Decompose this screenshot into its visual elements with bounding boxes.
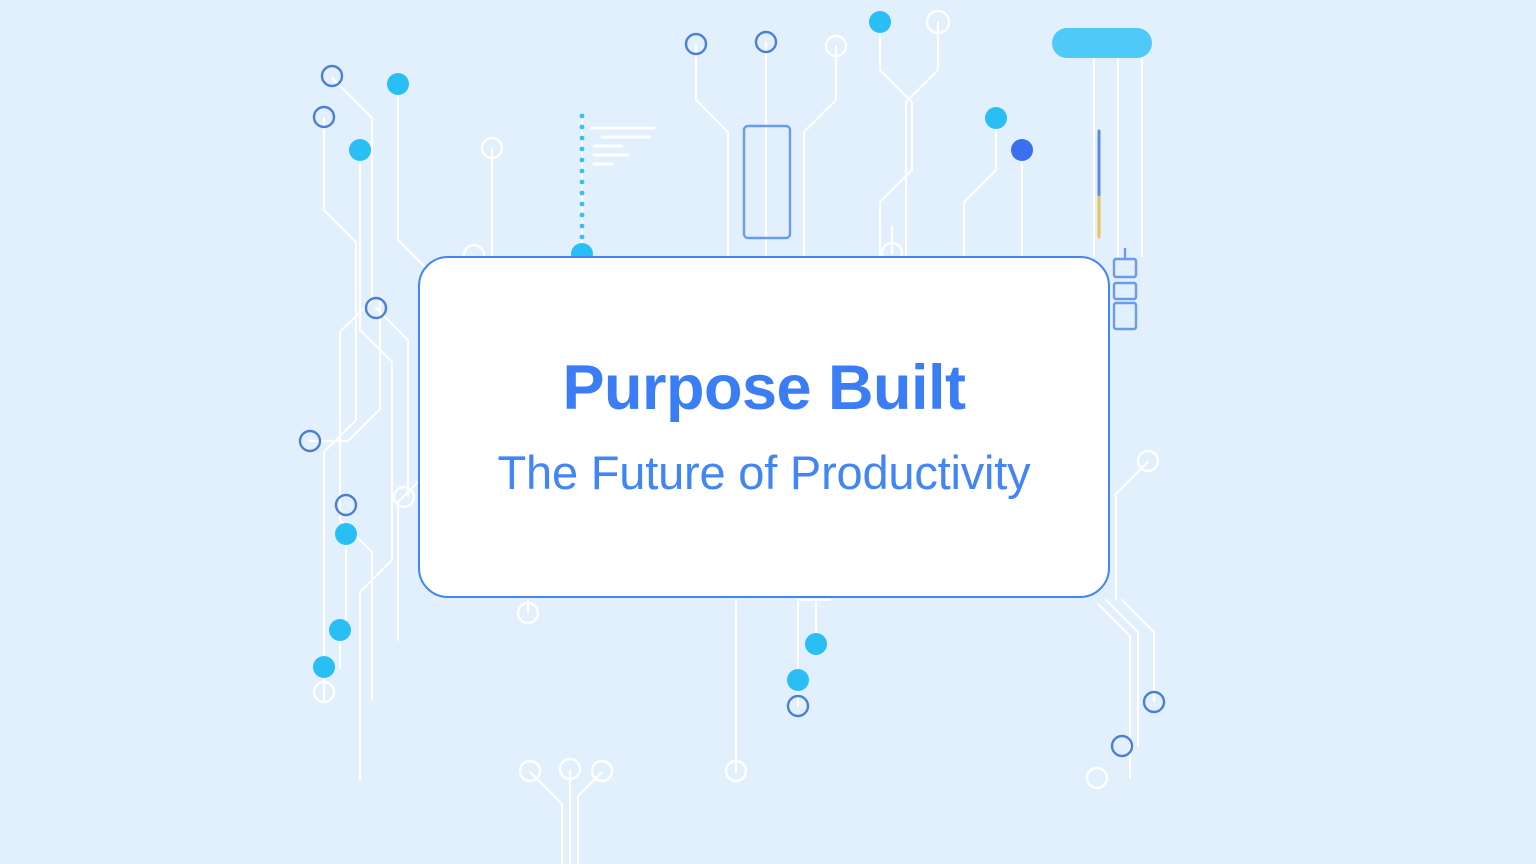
circuit-node-filled bbox=[313, 656, 335, 678]
chip-small bbox=[1114, 259, 1136, 277]
circuit-trace bbox=[578, 772, 602, 864]
circuit-node-filled bbox=[787, 669, 809, 691]
trace-dot bbox=[580, 169, 585, 174]
circuit-node-filled bbox=[869, 11, 891, 33]
circuit-trace bbox=[964, 118, 996, 256]
slide-canvas: Purpose Built The Future of Productivity bbox=[0, 0, 1536, 864]
circuit-trace bbox=[804, 46, 836, 256]
circuit-trace bbox=[310, 300, 380, 441]
trace-dot bbox=[580, 114, 585, 119]
chip-small bbox=[1114, 303, 1136, 329]
trace-dot bbox=[580, 213, 585, 218]
circuit-node-outline bbox=[322, 66, 342, 86]
pill-component bbox=[1052, 28, 1152, 58]
pill-shape bbox=[1052, 28, 1152, 58]
hero-card: Purpose Built The Future of Productivity bbox=[418, 256, 1110, 598]
circuit-trace bbox=[880, 22, 912, 256]
circuit-trace bbox=[360, 150, 392, 780]
chip-small bbox=[1114, 283, 1136, 299]
circuit-trace bbox=[1106, 600, 1138, 746]
circuit-node-filled bbox=[805, 633, 827, 655]
page-subtitle: The Future of Productivity bbox=[498, 447, 1031, 499]
trace-dot bbox=[580, 235, 585, 240]
circuit-node-filled bbox=[329, 619, 351, 641]
circuit-trace bbox=[906, 22, 938, 256]
circuit-trace bbox=[696, 44, 728, 256]
circuit-node-filled bbox=[387, 73, 409, 95]
trace-dot bbox=[580, 147, 585, 152]
circuit-node-filled bbox=[985, 107, 1007, 129]
circuit-node-filled bbox=[349, 139, 371, 161]
hash-marks bbox=[592, 128, 654, 164]
trace-dot bbox=[580, 191, 585, 196]
circuit-trace bbox=[1116, 462, 1148, 600]
circuit-node-filled bbox=[335, 523, 357, 545]
circuit-node-outline bbox=[1087, 768, 1107, 788]
circuit-trace bbox=[530, 772, 562, 864]
trace-dot bbox=[580, 125, 585, 130]
trace-dot bbox=[580, 224, 585, 229]
trace-dot bbox=[580, 180, 585, 185]
trace-dot bbox=[580, 136, 585, 141]
trace-dot bbox=[580, 158, 585, 163]
circuit-trace bbox=[332, 78, 372, 700]
circuit-node-filled bbox=[1011, 139, 1033, 161]
trace-dot bbox=[580, 202, 585, 207]
page-title: Purpose Built bbox=[562, 355, 965, 421]
